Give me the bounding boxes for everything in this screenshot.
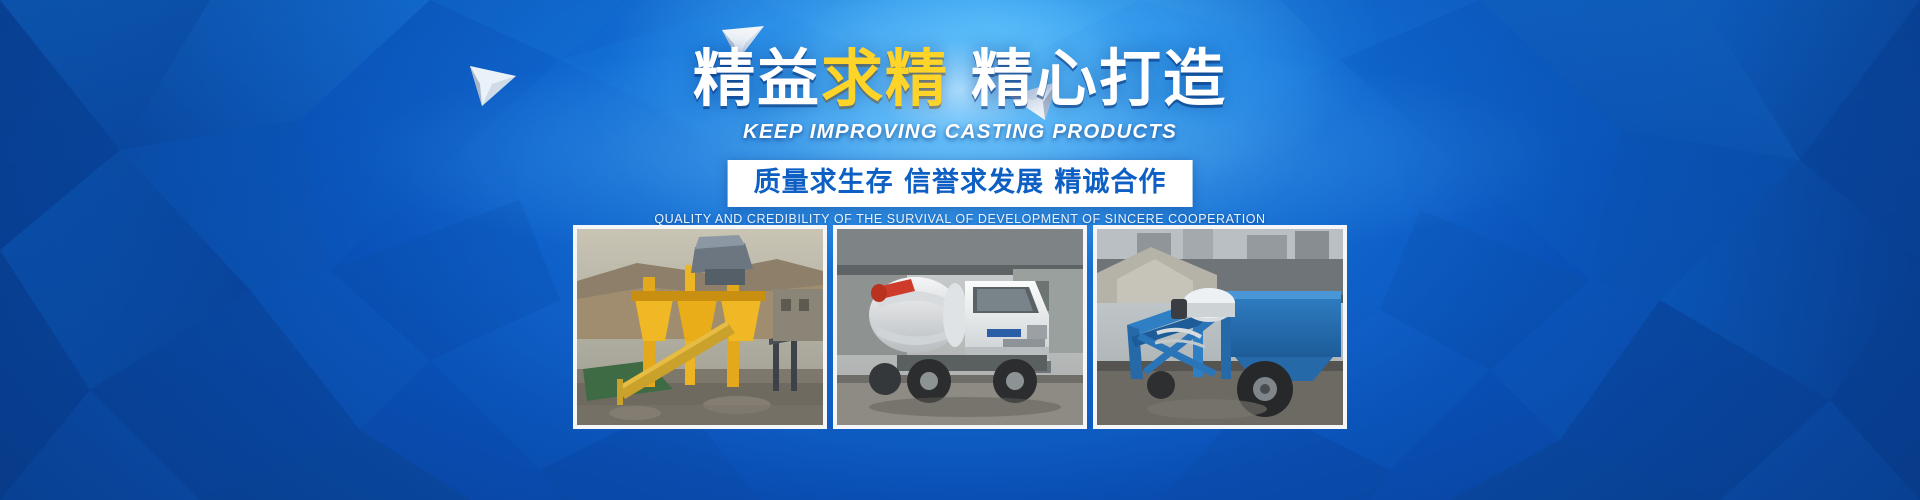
headline-part-3: 精心打造 xyxy=(971,42,1227,115)
headline-part-2-highlight: 求精 xyxy=(821,42,949,115)
slogan-caption-english: QUALITY AND CREDIBILITY OF THE SURVIVAL … xyxy=(0,212,1920,226)
headline-part-1: 精益 xyxy=(693,42,821,115)
slogan-text: 质量求生存 信誉求发展 精诚合作 xyxy=(754,167,1167,198)
headline-subtitle-english: KEEP IMPROVING CASTING PRODUCTS xyxy=(0,120,1920,144)
promo-banner: 精益求精精心打造 KEEP IMPROVING CASTING PRODUCTS… xyxy=(0,0,1920,500)
slogan-ribbon: 质量求生存 信誉求发展 精诚合作 xyxy=(728,160,1193,207)
photo-batching-plant: concrete batching plant with yellow aggr… xyxy=(573,225,827,429)
headline: 精益求精精心打造 xyxy=(0,48,1920,110)
photo-strip: concrete batching plant with yellow aggr… xyxy=(573,225,1347,429)
photo-mixer-truck: white concrete mixer truck xyxy=(833,225,1087,429)
photo-blue-batching-machine: blue mobile concrete batching machine xyxy=(1093,225,1347,429)
